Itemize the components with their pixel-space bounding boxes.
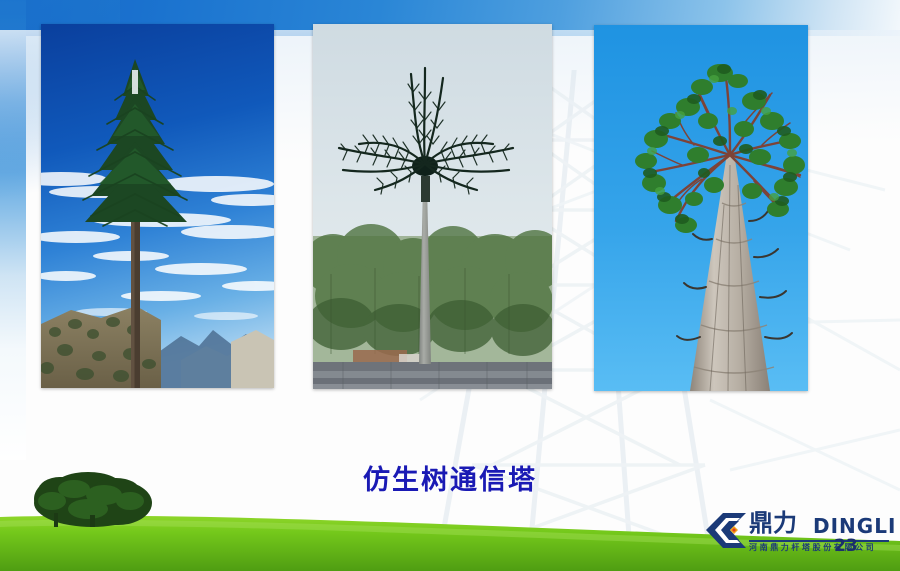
decorative-tree-icon — [30, 469, 160, 527]
photo-pine-tower — [41, 24, 274, 388]
photo-canopy-tower — [594, 25, 808, 391]
company-logo: 鼎力 DINGLI 河南鼎力杆塔股份有限公司 — [703, 509, 889, 557]
page-number: 23 — [834, 536, 858, 556]
logo-company-subtitle: 河南鼎力杆塔股份有限公司 — [749, 542, 891, 553]
logo-chinese-name: 鼎力 — [749, 510, 797, 536]
logo-english-name: DINGLI — [813, 514, 896, 538]
slide-canvas: 仿生树通信塔 — [0, 0, 900, 571]
photo-palm-tower — [313, 24, 552, 389]
dingli-diamond-emblem-icon — [703, 512, 747, 550]
